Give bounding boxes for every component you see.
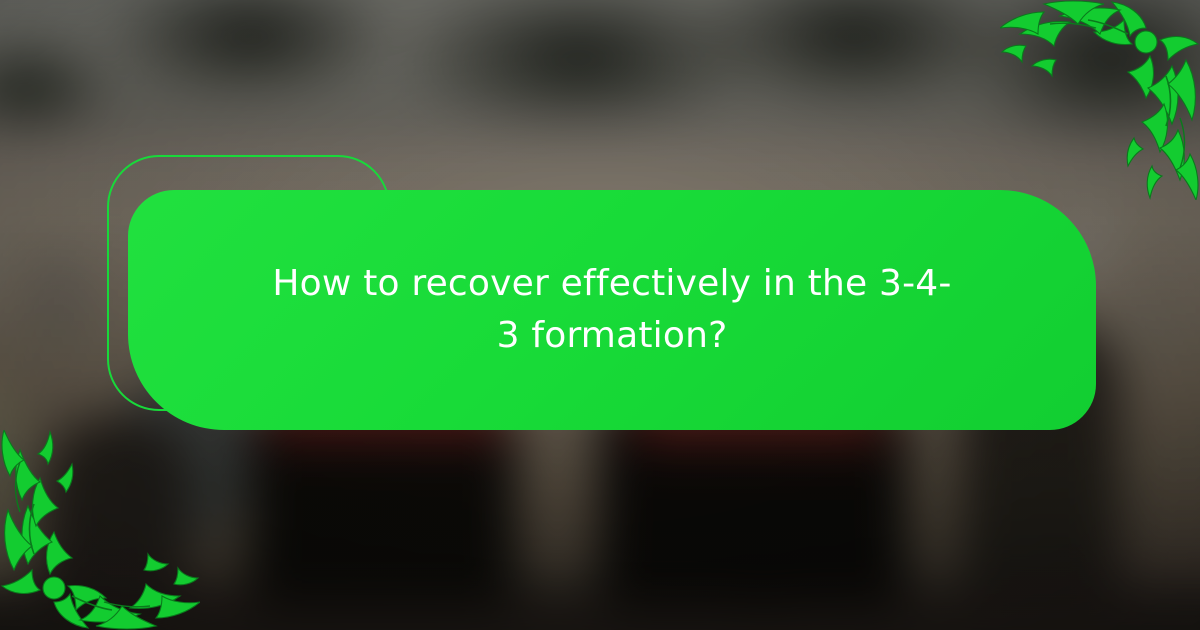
page-title: How to recover effectively in the 3-4-3 …: [272, 258, 952, 362]
screenshot-stage: How to recover effectively in the 3-4-3 …: [0, 0, 1200, 630]
title-card: How to recover effectively in the 3-4-3 …: [128, 190, 1096, 430]
